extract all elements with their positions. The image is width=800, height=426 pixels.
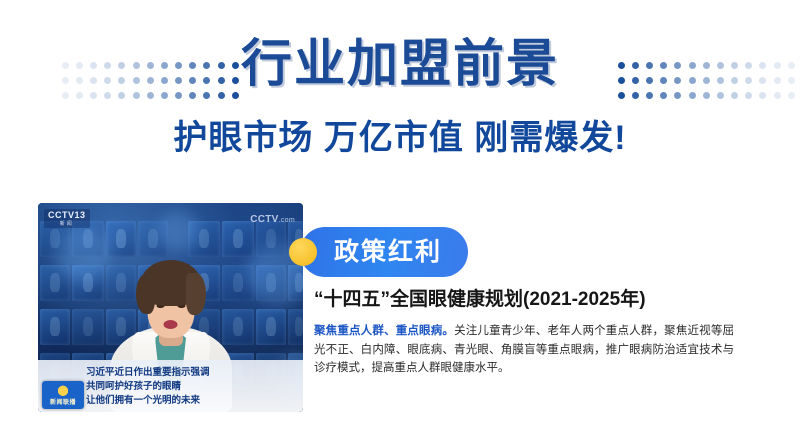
watermark-domain: .com — [279, 217, 295, 224]
grid-dot — [689, 92, 696, 99]
news-program-emblem: 新闻联播 — [42, 381, 84, 409]
cctv-com-watermark: CCTV.com — [250, 214, 295, 225]
header-section: 行业加盟前景 护眼市场 万亿市值 刚需爆发! — [0, 0, 800, 175]
studio-glow — [158, 211, 198, 251]
caption-line-2: 共同呵护好孩子的眼睛 — [86, 380, 210, 394]
grid-dot — [133, 92, 140, 99]
news-emblem-label: 新闻联播 — [42, 397, 84, 406]
grid-dot — [118, 92, 125, 99]
grid-dot — [774, 92, 781, 99]
grid-dot — [660, 92, 667, 99]
grid-dot — [745, 92, 752, 99]
poster-canvas: 行业加盟前景 护眼市场 万亿市值 刚需爆发! CCTV13 新闻 — [0, 0, 800, 426]
grid-dot — [203, 92, 210, 99]
grid-dot — [717, 92, 724, 99]
policy-description: 聚焦重点人群、重点眼病。关注儿童青少年、老年人两个重点人群，聚焦近视等屈光不正、… — [314, 322, 734, 378]
grid-dot — [232, 92, 239, 99]
grid-dot — [90, 92, 97, 99]
grid-dot — [189, 92, 196, 99]
grid-dot — [646, 92, 653, 99]
page-title: 行业加盟前景 — [0, 36, 800, 92]
cctv13-channel-logo: CCTV13 新闻 — [44, 209, 90, 228]
studio-monitor — [72, 309, 104, 345]
policy-headline: “十四五”全国眼健康规划(2021-2025年) — [314, 287, 784, 313]
studio-monitor — [40, 309, 70, 345]
grid-dot — [618, 92, 625, 99]
anchor-hair — [141, 260, 201, 306]
caption-text-block: 习近平近日作出重要指示强调 共同呵护好孩子的眼睛 让他们拥有一个光明的未来 — [86, 366, 210, 408]
grid-dot — [175, 92, 182, 99]
studio-monitor — [288, 309, 303, 345]
policy-description-highlight: 聚焦重点人群、重点眼病。 — [314, 325, 454, 337]
grid-dot — [632, 92, 639, 99]
grid-dot — [703, 92, 710, 99]
caption-line-1: 习近平近日作出重要指示强调 — [86, 366, 210, 380]
badge-dot-icon — [289, 238, 317, 266]
grid-dot — [147, 92, 154, 99]
grid-dot — [731, 92, 738, 99]
grid-dot — [104, 92, 111, 99]
page-subtitle: 护眼市场 万亿市值 刚需爆发! — [0, 117, 800, 159]
watermark-text: CCTV — [250, 214, 278, 225]
grid-dot — [788, 92, 795, 99]
grid-dot — [674, 92, 681, 99]
policy-badge-label: 政策红利 — [334, 240, 442, 265]
studio-monitor — [256, 309, 286, 345]
cctv-logo-text: CCTV — [48, 210, 75, 220]
studio-monitor — [106, 221, 136, 257]
cctv-channel-sub: 新闻 — [48, 220, 86, 227]
grid-dot — [62, 92, 69, 99]
news-broadcast-image: CCTV13 新闻 CCTV.com 习近平近日作出重要指示强调 共同呵护好孩子… — [38, 203, 303, 412]
mouth — [164, 320, 178, 329]
grid-dot — [161, 92, 168, 99]
grid-dot — [218, 92, 225, 99]
policy-badge-pill: 政策红利 — [300, 227, 468, 277]
caption-line-3: 让他们拥有一个光明的未来 — [86, 394, 210, 408]
cctv-channel-number: 13 — [75, 210, 86, 220]
grid-dot — [759, 92, 766, 99]
studio-glow — [56, 227, 110, 281]
grid-dot — [76, 92, 83, 99]
studio-monitor — [222, 221, 254, 257]
